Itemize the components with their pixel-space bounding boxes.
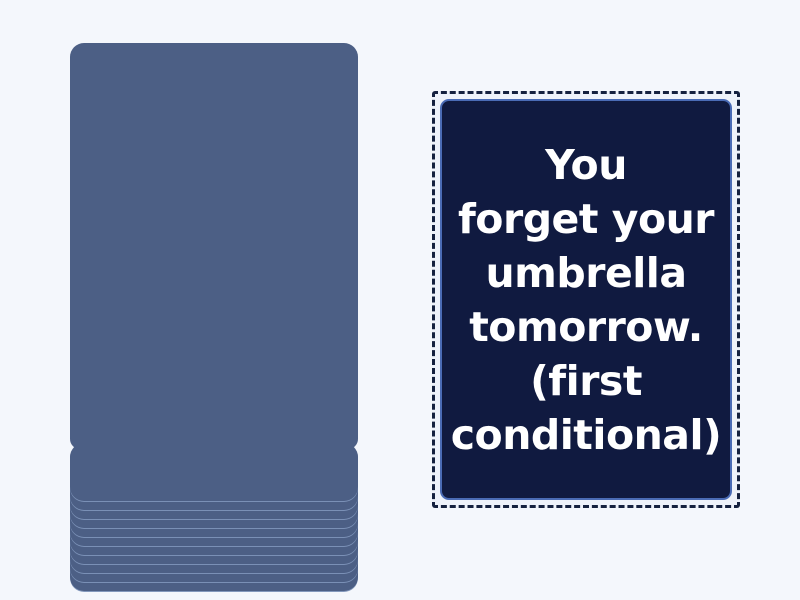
deck-top-card[interactable] — [70, 43, 358, 449]
deck-sheet — [70, 443, 358, 501]
flashcard-text: You forget your umbrella tomorrow. (firs… — [451, 138, 722, 462]
flashcard-selection-outline[interactable]: You forget your umbrella tomorrow. (firs… — [432, 91, 740, 508]
flashcard-activity-stage: You forget your umbrella tomorrow. (firs… — [0, 0, 800, 600]
flashcard[interactable]: You forget your umbrella tomorrow. (firs… — [440, 99, 732, 500]
card-deck[interactable] — [70, 43, 358, 548]
